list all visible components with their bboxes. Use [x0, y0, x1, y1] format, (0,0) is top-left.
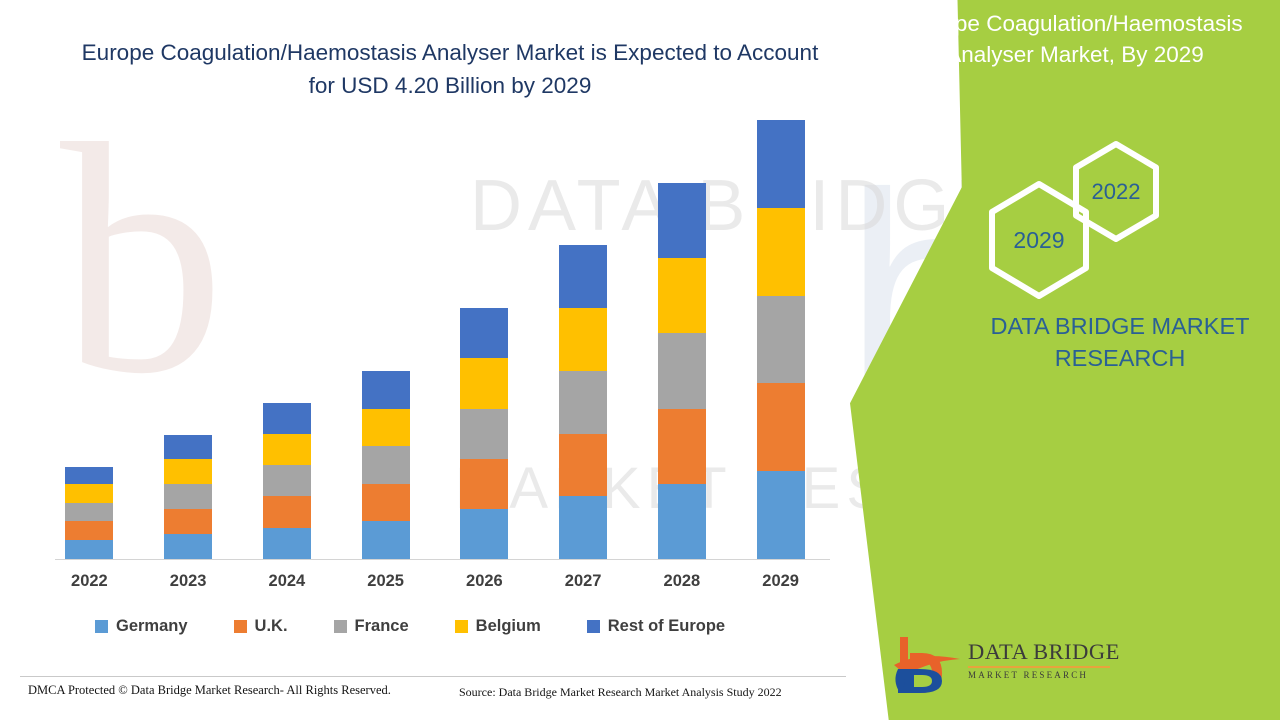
legend-swatch-icon [455, 620, 468, 633]
bar-segment [460, 308, 508, 358]
x-axis-label: 2023 [139, 572, 238, 591]
bar-segment [362, 409, 410, 447]
hexagon-end-year-label: 2029 [1013, 227, 1064, 254]
bar-segment [559, 371, 607, 434]
bar-column [731, 120, 830, 559]
hexagon-badges: 2022 2029 [985, 140, 1185, 285]
bar-column [633, 120, 732, 559]
data-bridge-logo: DATA BRIDGE MARKET RESEARCH [890, 635, 1110, 697]
bar-segment [263, 434, 311, 465]
bar-column [534, 120, 633, 559]
bar-segment [263, 528, 311, 559]
bar-group [40, 120, 830, 559]
hexagon-start-year-label: 2022 [1092, 179, 1141, 205]
legend-item: France [334, 617, 409, 636]
x-axis-label: 2029 [731, 572, 830, 591]
x-axis-labels: 20222023202420252026202720282029 [40, 572, 830, 591]
bar-segment [658, 183, 706, 258]
bar-segment [460, 509, 508, 559]
bar-segment [263, 465, 311, 496]
bar-segment [559, 308, 607, 371]
bar-segment [164, 534, 212, 559]
footer-copyright: DMCA Protected © Data Bridge Market Rese… [28, 683, 391, 698]
bar-segment [757, 120, 805, 208]
x-axis-label: 2028 [633, 572, 732, 591]
stacked-bar [460, 308, 508, 559]
logo-mark-icon [890, 635, 966, 695]
legend-label: U.K. [255, 617, 288, 636]
bar-segment [65, 467, 113, 484]
bar-segment [263, 496, 311, 527]
bar-segment [559, 245, 607, 308]
bar-segment [460, 409, 508, 459]
bar-segment [757, 471, 805, 559]
chart-legend: GermanyU.K.FranceBelgiumRest of Europe [95, 617, 805, 636]
bar-segment [65, 521, 113, 540]
stacked-bar [65, 467, 113, 559]
bar-segment [658, 258, 706, 333]
bar-segment [460, 358, 508, 408]
bar-segment [362, 371, 410, 409]
logo-main-text: DATA BRIDGE [968, 639, 1113, 665]
logo-text: DATA BRIDGE MARKET RESEARCH [968, 639, 1113, 680]
stacked-bar [559, 245, 607, 559]
bar-segment [658, 409, 706, 484]
bar-segment [559, 496, 607, 559]
stacked-bar [164, 435, 212, 559]
bar-column [139, 120, 238, 559]
legend-swatch-icon [587, 620, 600, 633]
logo-divider [968, 666, 1110, 668]
bar-segment [65, 503, 113, 522]
hexagon-badge-end-year: 2029 [985, 180, 1093, 300]
x-axis-label: 2022 [40, 572, 139, 591]
legend-item: Rest of Europe [587, 617, 725, 636]
legend-label: Belgium [476, 617, 541, 636]
bar-segment [460, 459, 508, 509]
bar-segment [757, 208, 805, 296]
x-axis-label: 2025 [336, 572, 435, 591]
bar-segment [164, 484, 212, 509]
legend-label: France [355, 617, 409, 636]
bar-column [238, 120, 337, 559]
bar-segment [757, 296, 805, 384]
legend-swatch-icon [234, 620, 247, 633]
legend-item: U.K. [234, 617, 288, 636]
bar-segment [362, 446, 410, 484]
bar-segment [65, 540, 113, 559]
x-axis-label: 2024 [238, 572, 337, 591]
x-axis-label: 2026 [435, 572, 534, 591]
bar-segment [658, 333, 706, 408]
bar-column [336, 120, 435, 559]
legend-item: Belgium [455, 617, 541, 636]
bar-segment [164, 459, 212, 484]
chart-title: Europe Coagulation/Haemostasis Analyser … [70, 36, 830, 102]
legend-label: Rest of Europe [608, 617, 725, 636]
bar-segment [362, 484, 410, 522]
bar-column [435, 120, 534, 559]
legend-swatch-icon [95, 620, 108, 633]
logo-sub-text: MARKET RESEARCH [968, 670, 1113, 680]
bar-segment [65, 484, 113, 503]
bar-segment [559, 434, 607, 497]
bar-column [40, 120, 139, 559]
stacked-bar [362, 371, 410, 559]
panel-title: Europe Coagulation/Haemostasis Analyser … [880, 8, 1270, 70]
x-axis-label: 2027 [534, 572, 633, 591]
legend-label: Germany [116, 617, 188, 636]
legend-item: Germany [95, 617, 188, 636]
stacked-bar [757, 120, 805, 559]
chart-plot-area [40, 120, 830, 560]
footer-source: Source: Data Bridge Market Research Mark… [459, 685, 782, 700]
bar-segment [263, 403, 311, 433]
panel-brand-name: DATA BRIDGE MARKET RESEARCH [960, 310, 1280, 374]
bar-segment [362, 521, 410, 559]
stacked-bar [658, 183, 706, 559]
stacked-bar [263, 403, 311, 559]
bar-segment [658, 484, 706, 559]
bar-segment [164, 509, 212, 534]
legend-swatch-icon [334, 620, 347, 633]
x-axis-line [55, 559, 830, 560]
bar-segment [757, 383, 805, 471]
bar-segment [164, 435, 212, 459]
footer-divider [20, 676, 846, 677]
